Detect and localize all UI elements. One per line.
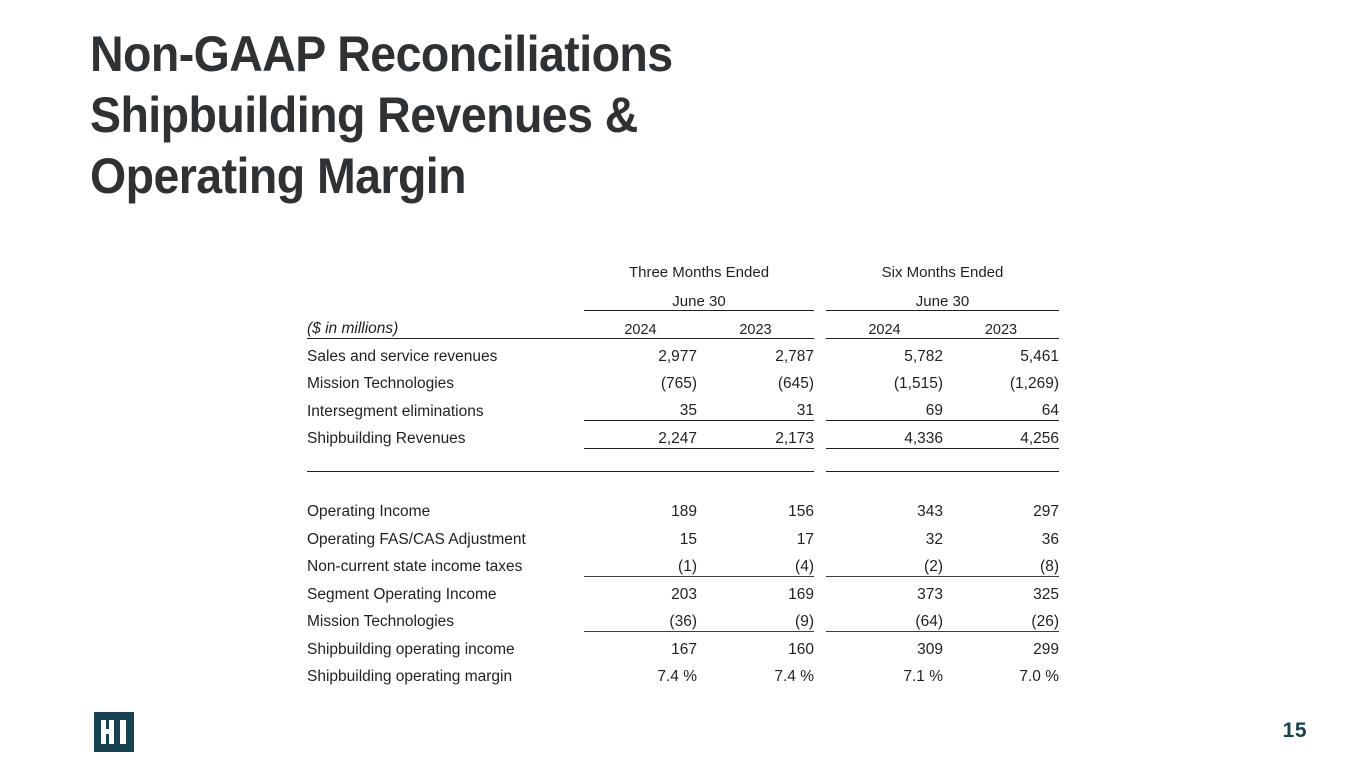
row-value: 17 [697,521,814,549]
table-row: Shipbuilding operating income 167 160 30… [307,631,1059,659]
row-value: 35 [584,393,697,421]
row-value: 2,787 [697,338,814,366]
row-value: 4,336 [826,421,943,449]
group-gap [814,366,826,394]
row-label: Operating FAS/CAS Adjustment [307,521,584,549]
spacer-cell [307,448,1059,470]
row-value: 5,782 [826,338,943,366]
table-group-header-row: Three Months Ended Six Months Ended [307,252,1059,281]
row-label: Sales and service revenues [307,338,584,366]
row-value: 203 [584,576,697,604]
row-value: 7.4 % [697,659,814,687]
row-value: (2) [826,549,943,577]
year-header-ytd-2024: 2024 [826,310,943,338]
table-row: Mission Technologies (765) (645) (1,515)… [307,366,1059,394]
row-label: Shipbuilding Revenues [307,421,584,449]
page-number: 15 [1283,719,1307,743]
row-label: Non-current state income taxes [307,549,584,577]
group-gap [814,576,826,604]
row-value: (1) [584,549,697,577]
row-value: 373 [826,576,943,604]
empty-cell [307,281,584,310]
period-six-months: June 30 [826,281,1059,310]
row-value: 343 [826,494,943,522]
row-value: 64 [943,393,1059,421]
row-label: Shipbuilding operating margin [307,659,584,687]
row-value: 2,247 [584,421,697,449]
table-year-header-row: ($ in millions) 2024 2023 2024 2023 [307,310,1059,338]
row-value: 15 [584,521,697,549]
group-gap [814,604,826,632]
row-value: (4) [697,549,814,577]
table-row: Intersegment eliminations 35 31 69 64 [307,393,1059,421]
row-value: (36) [584,604,697,632]
row-value: (9) [697,604,814,632]
row-label: Operating Income [307,494,584,522]
row-label: Shipbuilding operating income [307,631,584,659]
row-value: 7.4 % [584,659,697,687]
row-value: (645) [697,366,814,394]
row-value: 2,173 [697,421,814,449]
year-header-q-2024: 2024 [584,310,697,338]
row-value: 297 [943,494,1059,522]
row-value: 7.0 % [943,659,1059,687]
row-value: (1,515) [826,366,943,394]
table-period-row: June 30 June 30 [307,281,1059,310]
empty-cell [307,252,584,281]
table-row: Non-current state income taxes (1) (4) (… [307,549,1059,577]
row-value: 5,461 [943,338,1059,366]
row-value: 167 [584,631,697,659]
group-gap [814,338,826,366]
row-value: 169 [697,576,814,604]
row-value: 156 [697,494,814,522]
group-gap [814,549,826,577]
row-label: Segment Operating Income [307,576,584,604]
row-value: 36 [943,521,1059,549]
hii-logo-icon [94,712,134,752]
table-row: Sales and service revenues 2,977 2,787 5… [307,338,1059,366]
row-value: 32 [826,521,943,549]
row-value: 309 [826,631,943,659]
group-gap [814,281,826,310]
row-value: 160 [697,631,814,659]
group-header-six-months: Six Months Ended [826,252,1059,281]
table-row: Operating FAS/CAS Adjustment 15 17 32 36 [307,521,1059,549]
table-row: Mission Technologies (36) (9) (64) (26) [307,604,1059,632]
group-gap [814,310,826,338]
page-title: Non-GAAP Reconciliations Shipbuilding Re… [90,24,927,207]
non-gaap-reconciliation-table: Three Months Ended Six Months Ended June… [307,252,1059,686]
row-value: 4,256 [943,421,1059,449]
table-row: Shipbuilding operating margin 7.4 % 7.4 … [307,659,1059,687]
row-value: (64) [826,604,943,632]
row-value: 7.1 % [826,659,943,687]
units-note: ($ in millions) [307,310,584,338]
row-label: Intersegment eliminations [307,393,584,421]
table-spacer-row [307,448,1059,470]
row-value: (8) [943,549,1059,577]
row-value: 325 [943,576,1059,604]
row-value: 2,977 [584,338,697,366]
row-value: 31 [697,393,814,421]
row-value: 69 [826,393,943,421]
table-row-subtotal: Shipbuilding Revenues 2,247 2,173 4,336 … [307,421,1059,449]
row-value: 189 [584,494,697,522]
group-gap [814,393,826,421]
group-gap [814,494,826,522]
period-three-months: June 30 [584,281,814,310]
row-value: (26) [943,604,1059,632]
group-gap [814,521,826,549]
table-row: Operating Income 189 156 343 297 [307,494,1059,522]
row-label: Mission Technologies [307,604,584,632]
row-label: Mission Technologies [307,366,584,394]
row-value: 299 [943,631,1059,659]
group-gap [814,631,826,659]
year-header-ytd-2023: 2023 [943,310,1059,338]
table-spacer-row [307,472,1059,494]
group-header-three-months: Three Months Ended [584,252,814,281]
year-header-q-2023: 2023 [697,310,814,338]
group-gap [814,252,826,281]
group-gap [814,421,826,449]
group-gap [814,659,826,687]
table-row-subtotal: Segment Operating Income 203 169 373 325 [307,576,1059,604]
spacer-cell [307,472,1059,494]
row-value: (1,269) [943,366,1059,394]
row-value: (765) [584,366,697,394]
